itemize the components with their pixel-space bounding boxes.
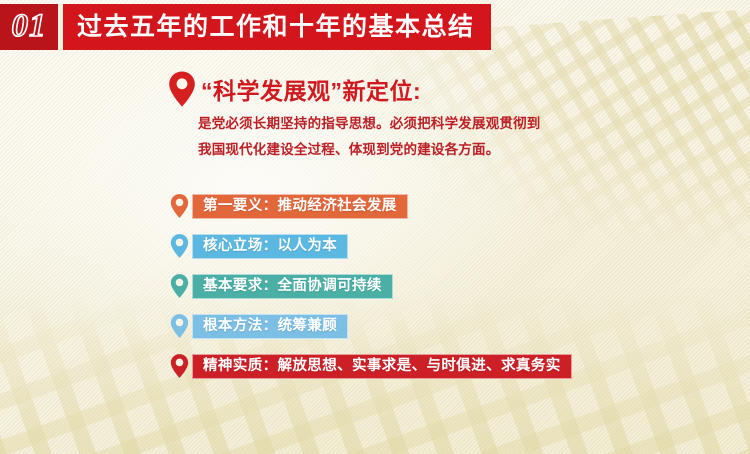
point-bar-4: 精神实质：解放思想、实事求是、与时俱进、求真务实 <box>192 354 572 379</box>
subtitle-line-2: 我国现代化建设全过程、体现到党的建设各方面。 <box>198 140 598 160</box>
point-bar-3: 根本方法：统筹兼顾 <box>192 314 348 339</box>
list-item[interactable]: 核心立场：以人为本 <box>166 226 572 266</box>
map-pin-icon <box>166 313 192 339</box>
point-list: 第一要义：推动经济社会发展 核心立场：以人为本 基本 <box>166 186 572 386</box>
map-pin-icon <box>166 233 192 259</box>
main-subtitle: 是党必须长期坚持的指导思想。必须把科学发展观贯彻到 我国现代化建设全过程、体现到… <box>198 114 598 167</box>
point-bar-2: 基本要求：全面协调可持续 <box>192 274 393 299</box>
map-pin-icon <box>166 353 192 379</box>
point-label: 基本要求：全面协调可持续 <box>203 279 382 294</box>
section-number-badge: 01 <box>0 4 58 50</box>
list-item[interactable]: 根本方法：统筹兼顾 <box>166 306 572 346</box>
map-pin-icon <box>166 273 192 299</box>
list-item[interactable]: 第一要义：推动经济社会发展 <box>166 186 572 226</box>
main-title: “科学发展观”新定位: <box>168 70 421 113</box>
list-item[interactable]: 精神实质：解放思想、实事求是、与时俱进、求真务实 <box>166 346 572 386</box>
section-header: 01 过去五年的工作和十年的基本总结 <box>0 4 491 50</box>
slide-root: 01 过去五年的工作和十年的基本总结 “科学发展观”新定位: 是党必须长期坚持的… <box>0 0 750 454</box>
point-label: 第一要义：推动经济社会发展 <box>203 199 397 214</box>
point-label: 根本方法：统筹兼顾 <box>203 319 337 334</box>
section-number-text: 01 <box>12 10 47 45</box>
point-label: 核心立场：以人为本 <box>203 239 337 254</box>
subtitle-line-1: 是党必须长期坚持的指导思想。必须把科学发展观贯彻到 <box>198 114 598 134</box>
map-pin-icon <box>168 70 196 113</box>
point-label: 精神实质：解放思想、实事求是、与时俱进、求真务实 <box>203 359 561 374</box>
list-item[interactable]: 基本要求：全面协调可持续 <box>166 266 572 306</box>
section-title-text: 过去五年的工作和十年的基本总结 <box>77 15 475 40</box>
main-title-text: “科学发展观”新定位: <box>201 80 421 103</box>
point-bar-1: 核心立场：以人为本 <box>192 234 348 259</box>
map-pin-icon <box>166 193 192 219</box>
point-bar-0: 第一要义：推动经济社会发展 <box>192 194 408 219</box>
section-title-bar: 过去五年的工作和十年的基本总结 <box>63 4 491 50</box>
